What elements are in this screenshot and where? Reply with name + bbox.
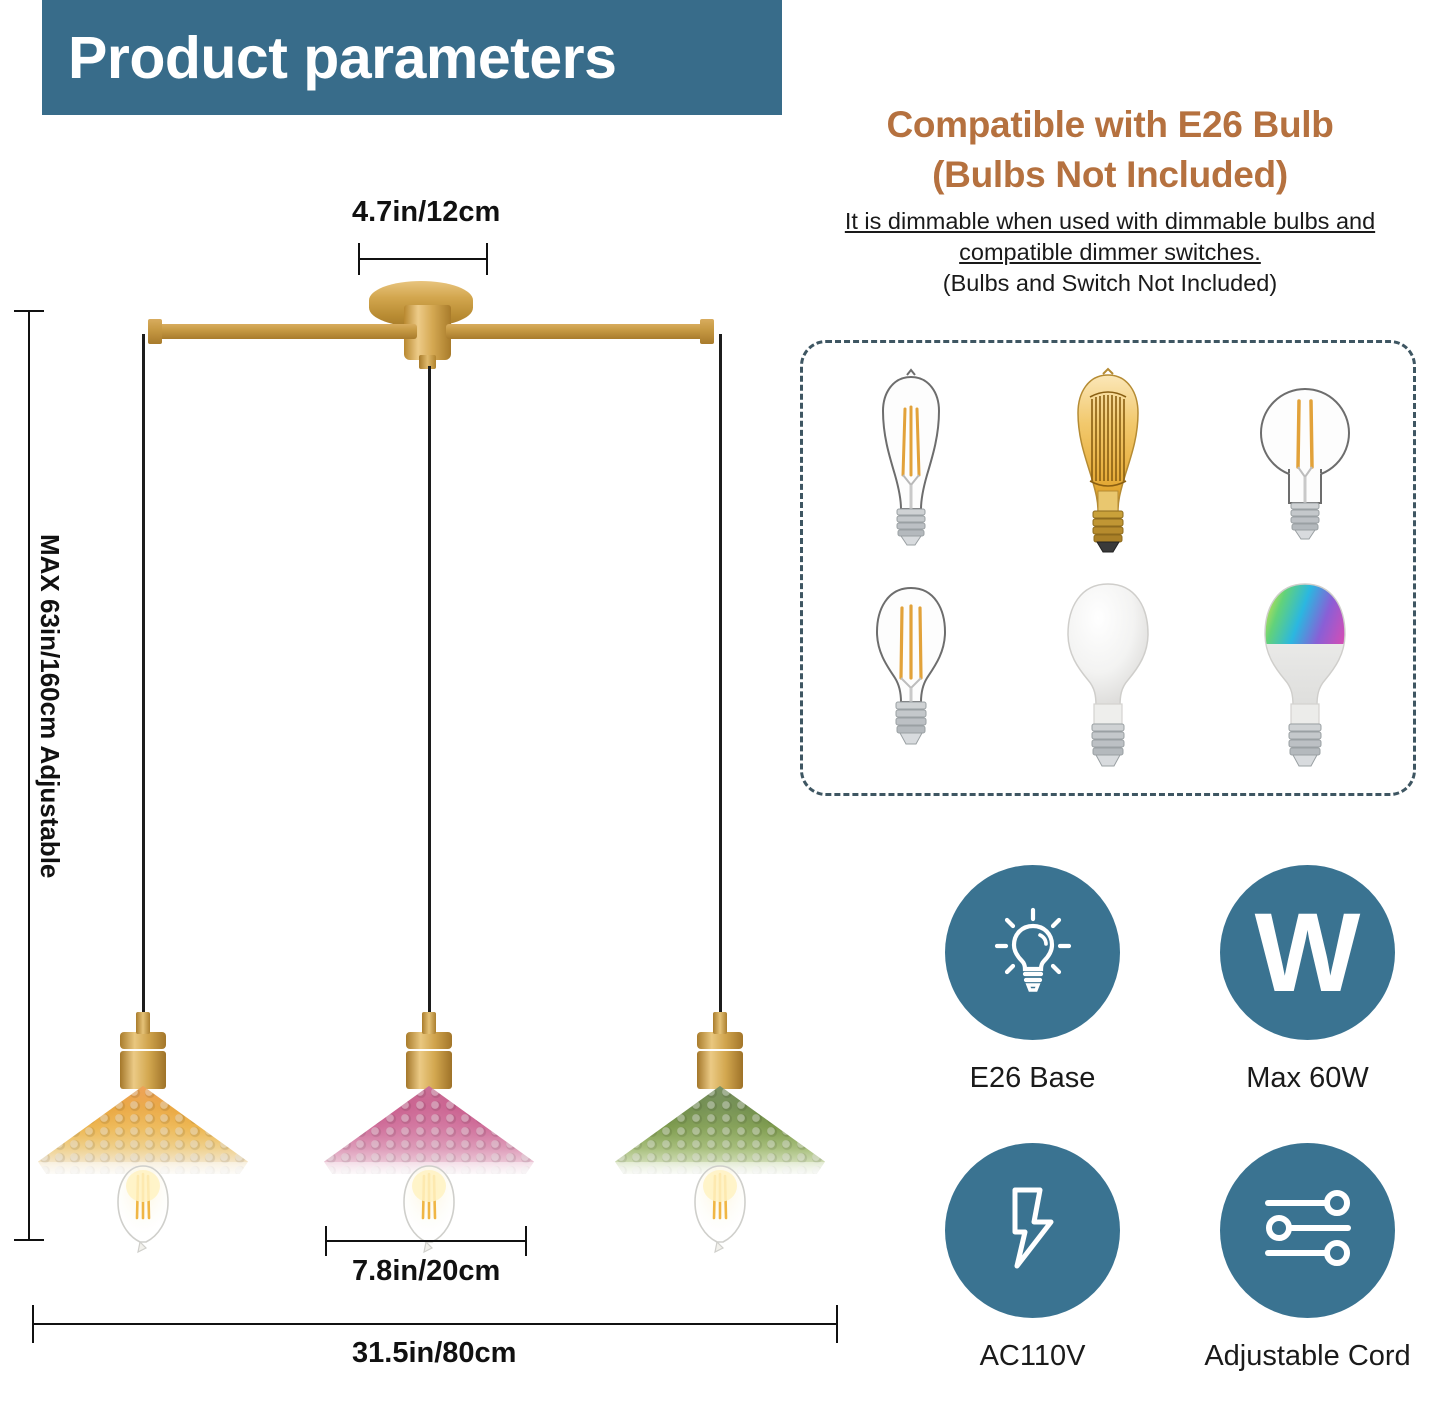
feature-adjustable-cord: Adjustable Cord (1180, 1143, 1435, 1373)
compatibility-text-block: Compatible with E26 Bulb (Bulbs Not Incl… (790, 100, 1430, 299)
canopy-width-label: 4.7in/12cm (352, 196, 500, 229)
socket-head-right (697, 1032, 743, 1089)
socket-cap (120, 1032, 166, 1049)
feature-circle: W (1220, 865, 1395, 1040)
lit-bulb-left (108, 1160, 178, 1265)
brass-arm-left-endcap (148, 319, 162, 344)
dimmable-note-line1: It is dimmable when used with dimmable b… (790, 206, 1430, 237)
socket-stem (422, 1012, 436, 1034)
overall-dim-line (32, 1323, 838, 1325)
canopy-dim-tick-right (486, 243, 488, 275)
shade-width-label: 7.8in/20cm (352, 1255, 500, 1288)
compat-heading-line1: Compatible with E26 Bulb (790, 100, 1430, 150)
socket-stem (136, 1012, 150, 1034)
lit-bulb-right (685, 1160, 755, 1265)
socket-cap (406, 1032, 452, 1049)
sliders-adjust-icon (1260, 1187, 1356, 1274)
feature-circle (945, 1143, 1120, 1318)
feature-ac110v: AC110V (905, 1143, 1160, 1373)
drop-dim-tick-top (14, 310, 44, 312)
overall-dim-tick-right (836, 1305, 838, 1343)
socket-body (120, 1051, 166, 1089)
lightning-bolt-icon (987, 1182, 1079, 1279)
dimmable-note-line2: compatible dimmer switches. (790, 237, 1430, 268)
watt-w-icon: W (1255, 897, 1361, 1009)
socket-body (697, 1051, 743, 1089)
brass-arm-right (446, 324, 710, 339)
drop-dim-tick-bottom (14, 1239, 44, 1241)
socket-head-left (120, 1032, 166, 1089)
bulb-compatibility-box (800, 340, 1416, 796)
brass-arm-left (152, 324, 417, 339)
shade-dim-tick-left (325, 1226, 327, 1256)
compat-heading-line2: (Bulbs Not Included) (790, 150, 1430, 200)
cord-left (142, 334, 145, 1034)
feature-label: E26 Base (970, 1062, 1096, 1095)
overall-width-label: 31.5in/80cm (352, 1337, 516, 1370)
feature-label: Adjustable Cord (1204, 1340, 1410, 1373)
light-bulb-icon (985, 902, 1081, 1003)
socket-stem (713, 1012, 727, 1034)
dimmable-note-line3: (Bulbs and Switch Not Included) (790, 268, 1430, 299)
canopy-dim-line (358, 258, 488, 260)
drop-height-label: MAX 63in/160cm Adjustable (34, 534, 65, 878)
shade-dim-line (325, 1240, 527, 1242)
socket-body (406, 1051, 452, 1089)
socket-cap (697, 1032, 743, 1049)
socket-head-center (406, 1032, 452, 1089)
overall-dim-tick-left (32, 1305, 34, 1343)
product-dimension-diagram: 4.7in/12cm MAX 63in/160cm Adjustable (0, 0, 880, 1404)
brass-arm-right-endcap (700, 319, 714, 344)
feature-circle (1220, 1143, 1395, 1318)
bulb-rgb-smart-color (1206, 568, 1403, 779)
bulb-g25-globe-clear-filament (1206, 357, 1403, 568)
feature-label: Max 60W (1246, 1062, 1368, 1095)
feature-max-60w: W Max 60W (1180, 865, 1435, 1095)
bulb-a19-frosted-led (1010, 568, 1207, 779)
canopy-dim-tick-left (358, 243, 360, 275)
feature-e26-base: E26 Base (905, 865, 1160, 1095)
bulb-st58-vintage-amber-edison (1010, 357, 1207, 568)
lit-bulb-center (394, 1160, 464, 1265)
feature-badges: E26 Base W Max 60W AC110V (905, 865, 1435, 1373)
cord-center (428, 366, 431, 1034)
feature-circle (945, 865, 1120, 1040)
cord-right (719, 334, 722, 1034)
shade-dim-tick-right (525, 1226, 527, 1256)
feature-label: AC110V (980, 1340, 1086, 1373)
drop-dim-line (28, 310, 30, 1240)
